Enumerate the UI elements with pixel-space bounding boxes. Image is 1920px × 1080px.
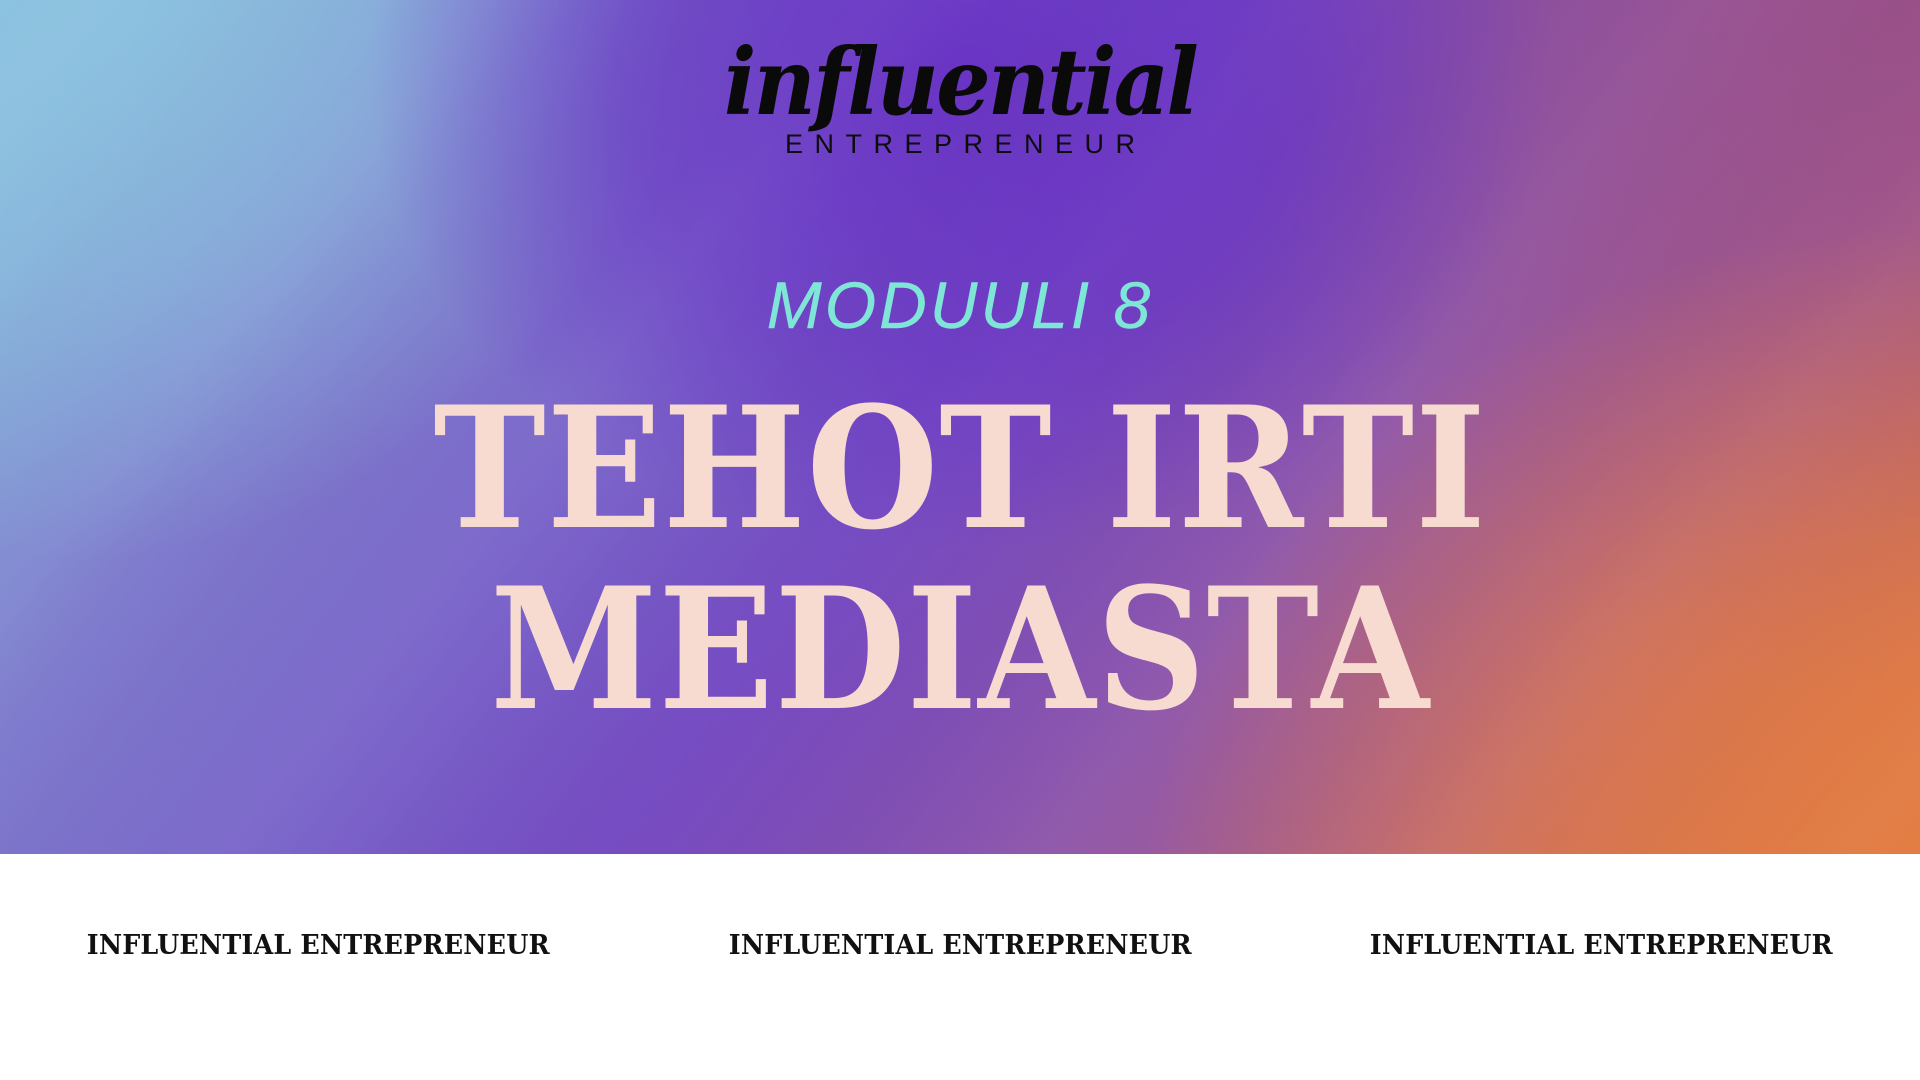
footer-brand-left: INFLUENTIAL ENTREPRENEUR	[87, 932, 550, 959]
footer-brand-center: INFLUENTIAL ENTREPRENEUR	[728, 932, 1191, 959]
footer-brand-right: INFLUENTIAL ENTREPRENEUR	[1370, 932, 1833, 959]
module-eyebrow: MODUULI 8	[0, 272, 1920, 338]
footer-bar: INFLUENTIAL ENTREPRENEUR INFLUENTIAL ENT…	[0, 854, 1920, 1080]
footer-brand-row: INFLUENTIAL ENTREPRENEUR INFLUENTIAL ENT…	[0, 932, 1920, 959]
page-title: TEHOT IRTI MEDIASTA	[0, 378, 1920, 741]
brand-logo-lockup: influential ENTREPRENEUR	[0, 40, 1920, 158]
title-line-2: MEDIASTA	[96, 559, 1824, 740]
logo-wordmark: influential	[67, 40, 1853, 125]
slide-canvas: influential ENTREPRENEUR MODUULI 8 TEHOT…	[0, 0, 1920, 1080]
hero-gradient-panel: influential ENTREPRENEUR MODUULI 8 TEHOT…	[0, 0, 1920, 854]
title-line-1: TEHOT IRTI	[96, 378, 1824, 559]
